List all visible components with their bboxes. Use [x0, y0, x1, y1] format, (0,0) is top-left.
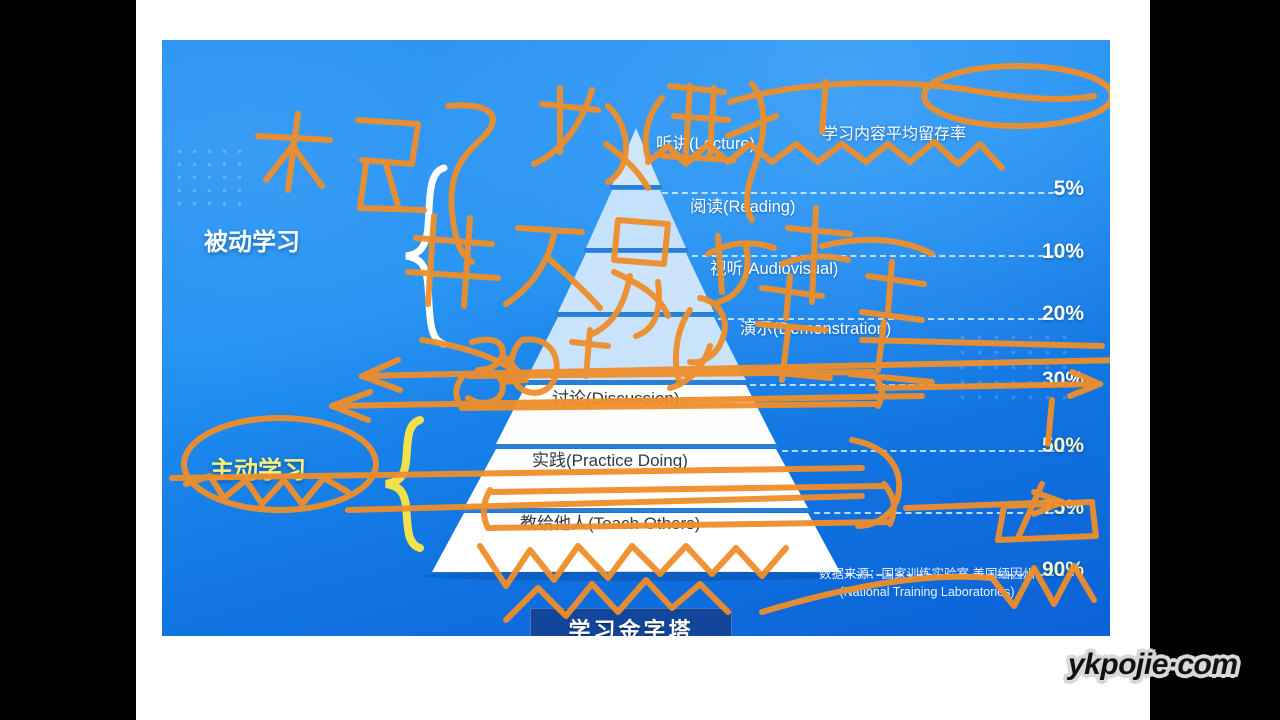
group-label-active: 主动学习 — [210, 450, 306, 485]
leader-line-5 — [782, 450, 1074, 452]
value-column-header: 学习内容平均留存率 — [822, 120, 966, 144]
tier-value-demonstration: 30% — [1042, 368, 1084, 392]
tier-value-discussion: 50% — [1042, 434, 1084, 458]
screenshot-root: 学习内容平均留存率 听讲(Lecture) 阅读(Reading) 视听(Aud… — [0, 0, 1280, 720]
tier-value-reading: 10% — [1042, 240, 1084, 264]
pyramid-tier-1 — [612, 128, 660, 185]
slide-title-box: 学习金字塔 — [530, 608, 732, 636]
letterbox-bar-left — [0, 0, 136, 720]
site-watermark: ykpojie·com — [1068, 648, 1238, 682]
tier-label-teach-others: 教给他人(Teach Others) — [520, 509, 700, 534]
tier-label-demonstration: 演示(Demonstration) — [740, 315, 891, 339]
tier-value-lecture: 5% — [1054, 177, 1084, 201]
tier-label-lecture: 听讲(Lecture) — [656, 130, 755, 154]
pyramid-tier-4 — [526, 317, 746, 380]
learning-pyramid-slide: 学习内容平均留存率 听讲(Lecture) 阅读(Reading) 视听(Aud… — [162, 40, 1110, 636]
pyramid-tier-3 — [558, 253, 714, 312]
tier-label-reading: 阅读(Reading) — [690, 193, 795, 217]
leader-line-4 — [750, 384, 1074, 386]
data-source-line-2: (National Training Laboratories) — [762, 583, 1092, 601]
data-source-note: 数据来源：国家训练实验室 美国缅因州 (National Training La… — [762, 565, 1092, 601]
letterbox-bar-right — [1150, 0, 1280, 720]
tier-label-practice: 实践(Practice Doing) — [532, 446, 688, 471]
tier-label-audiovisual: 视听(Audiovisual) — [710, 255, 838, 279]
decorative-dot-grid-left — [172, 145, 246, 207]
leader-line-6 — [814, 512, 1074, 514]
group-label-passive: 被动学习 — [204, 222, 300, 257]
tier-value-audiovisual: 20% — [1042, 302, 1084, 326]
slide-title: 学习金字塔 — [568, 613, 693, 636]
tier-value-practice: 75% — [1042, 496, 1084, 520]
pyramid-tier-2 — [586, 190, 686, 248]
tier-label-discussion: 讨论(Discussion) — [552, 384, 680, 409]
data-source-line-1: 数据来源：国家训练实验室 美国缅因州 — [762, 565, 1092, 583]
